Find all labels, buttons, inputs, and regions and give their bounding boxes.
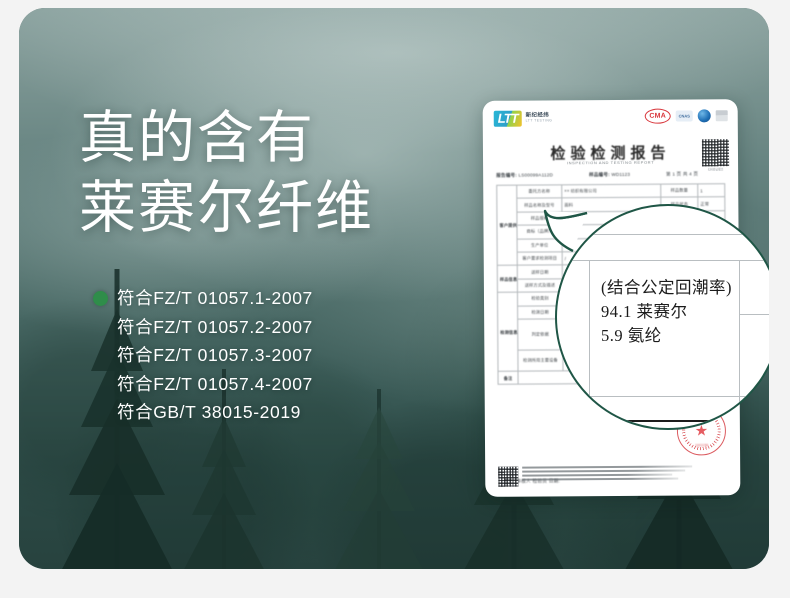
- table-cell-label2: 样品数量: [661, 184, 698, 198]
- accreditation-badges: CMA CNAS: [645, 108, 728, 124]
- pine-tree-center: [319, 339, 439, 569]
- page-indicator: 第 1 页 共 4 页: [666, 171, 698, 177]
- table-cell-label: 检测所用主要设备: [518, 350, 563, 371]
- hero-image-card: 真的含有 莱赛尔纤维 符合FZ/T 01057.1-2007 符合FZ/T 01…: [19, 8, 769, 569]
- footer-line: [522, 478, 678, 481]
- banner-canvas: 真的含有 莱赛尔纤维 符合FZ/T 01057.1-2007 符合FZ/T 01…: [0, 0, 790, 598]
- qr-caption: 扫码验证报告: [702, 167, 729, 171]
- certificate-subtitle: INSPECTION AND TESTING REPORT: [483, 159, 738, 166]
- table-cell-label: 送样方式及描述: [517, 279, 562, 293]
- fiber-line-lyocell: 94.1 莱赛尔: [601, 300, 732, 324]
- accreditation-logo-icon: [716, 110, 728, 121]
- report-number-value: LS00099A112D: [519, 172, 554, 177]
- table-cell-value: ×× 纺织有限公司: [562, 184, 661, 198]
- list-item: 符合FZ/T 01057.4-2007: [117, 370, 313, 399]
- table-group-label: 客户提供信息: [497, 185, 518, 265]
- lab-logo-mark: LTT: [494, 111, 522, 127]
- footer-line: [522, 465, 692, 468]
- table-cell-label: 客户要求检测项目: [517, 252, 562, 266]
- standards-list: 符合FZ/T 01057.1-2007 符合FZ/T 01057.2-2007 …: [117, 284, 313, 427]
- footer-line: [522, 470, 685, 473]
- table-cell-value2: 1: [698, 184, 725, 198]
- inspection-seal-icon: [698, 109, 711, 122]
- lens-rule-thick: [557, 420, 769, 422]
- table-group-label: 检测信息: [497, 292, 518, 371]
- table-cell-label: 生产单位: [517, 238, 562, 252]
- lab-logo-en: LTT TESTING: [526, 120, 553, 124]
- table-cell-label: 样品规格: [517, 212, 562, 226]
- sample-number: 样品编号: WD1123: [589, 172, 630, 178]
- sample-number-value: WD1123: [611, 172, 630, 177]
- report-number: 报告编号: LS00099A112D: [496, 172, 553, 178]
- cnas-badge-icon: CNAS: [676, 110, 693, 121]
- sample-number-label: 样品编号:: [589, 172, 610, 177]
- table-group-label: 样品信息: [497, 266, 517, 293]
- lens-rule: [557, 234, 769, 235]
- certificate-meta: 报告编号: LS00099A112D 样品编号: WD1123 第 1 页 共 …: [496, 171, 698, 178]
- list-item: 符合GB/T 38015-2019: [117, 398, 313, 427]
- page-title: 真的含有 莱赛尔纤维: [79, 103, 374, 243]
- lens-rule: [739, 314, 769, 315]
- lens-rule: [739, 260, 740, 406]
- certificate-footer: [498, 465, 692, 486]
- headline-line-2: 莱赛尔纤维: [79, 173, 374, 243]
- list-item: 符合FZ/T 01057.2-2007: [117, 313, 313, 342]
- footer-line: [522, 474, 672, 477]
- table-cell-label: 样品名称及型号: [517, 198, 562, 212]
- fiber-line-spandex: 5.9 氨纶: [601, 324, 732, 348]
- report-number-label: 报告编号:: [496, 173, 517, 178]
- table-group-label: 备注: [498, 371, 518, 385]
- lab-logo: LTT 新纪经纬 LTT TESTING: [494, 110, 553, 126]
- cma-badge-icon: CMA: [645, 109, 671, 124]
- list-item: 符合FZ/T 01057.1-2007: [117, 284, 313, 313]
- table-cell-label: 送样日期: [517, 265, 562, 279]
- magnifier-callout: (结合公定回潮率) 94.1 莱赛尔 5.9 氨纶: [555, 204, 769, 430]
- moisture-regain-note: (结合公定回潮率): [601, 276, 732, 300]
- headline-line-1: 真的含有: [79, 103, 374, 173]
- lab-logo-words: 新纪经纬 LTT TESTING: [526, 114, 553, 124]
- qr-code-icon: [702, 139, 729, 166]
- footer-qr-code-icon: [498, 467, 518, 487]
- footer-address-lines: [522, 465, 692, 482]
- green-dot-icon: [93, 291, 108, 306]
- lens-rule: [589, 260, 590, 406]
- table-cell-label: 商标（品牌）: [517, 225, 562, 239]
- table-cell-label: 委托方名称: [517, 185, 562, 199]
- fiber-composition-text: (结合公定回潮率) 94.1 莱赛尔 5.9 氨纶: [601, 276, 732, 348]
- list-item: 符合FZ/T 01057.3-2007: [117, 341, 313, 370]
- seal-code: 1001158: [678, 443, 725, 447]
